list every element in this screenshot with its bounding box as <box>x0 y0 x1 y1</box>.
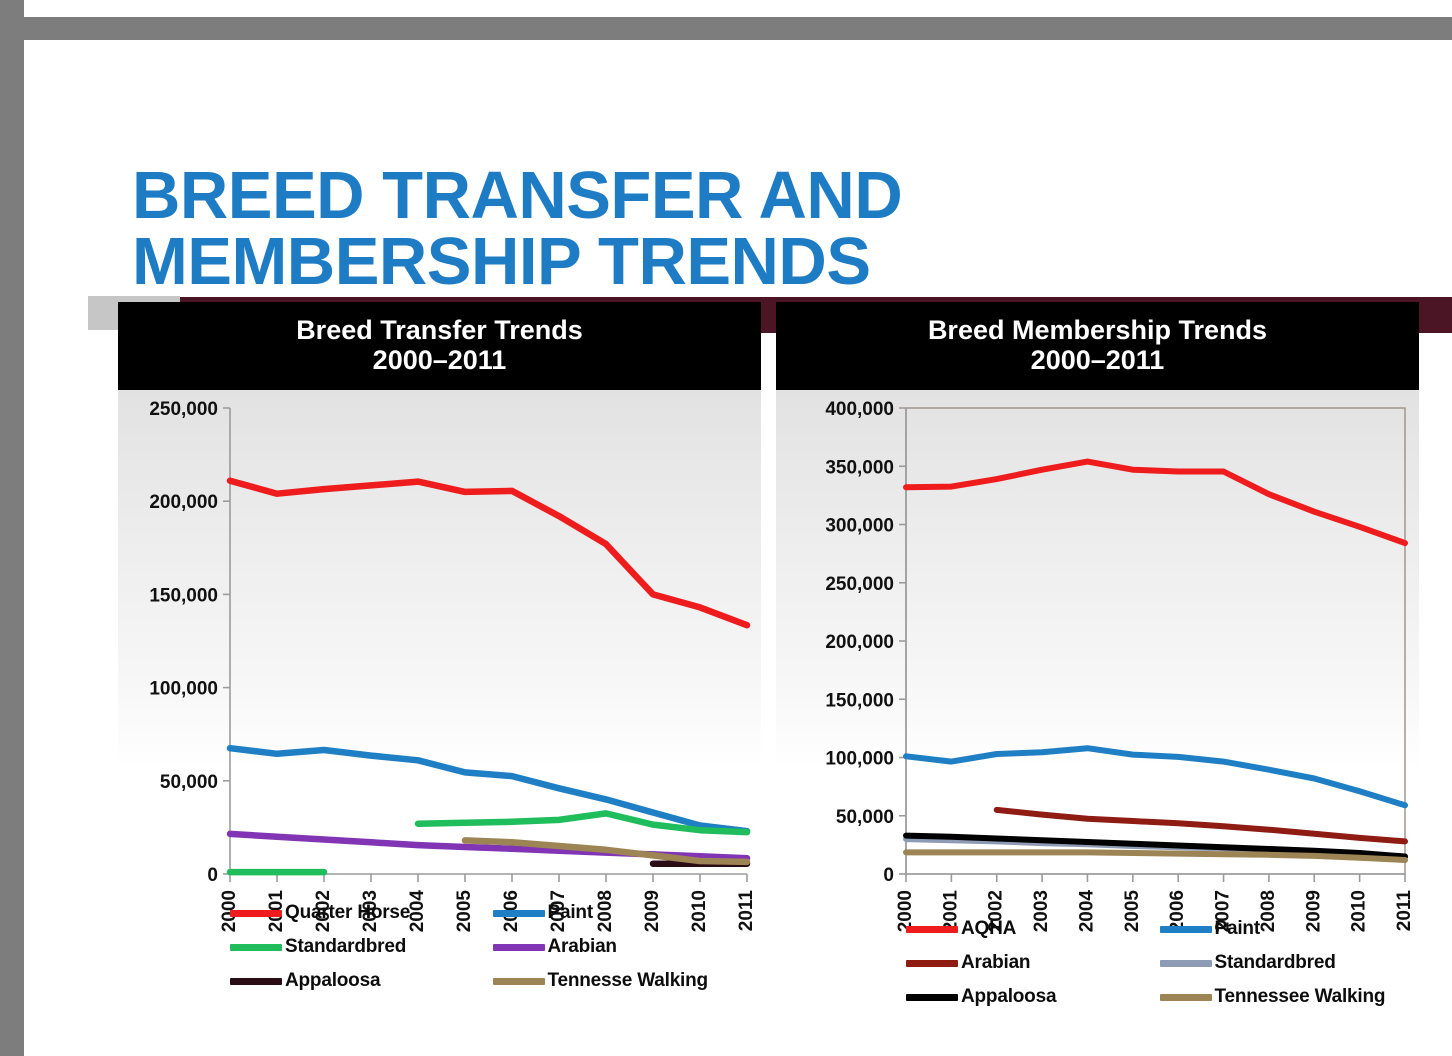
legend-item-label: Paint <box>1215 918 1260 940</box>
legend-item-label: Arabian <box>961 952 1030 974</box>
legend-item-label: Tennesse Walking <box>548 970 708 992</box>
y-axis-tick-label: 0 <box>207 865 218 886</box>
legend-item[interactable]: Appaloosa <box>906 986 1160 1008</box>
chart-panel-breed-membership: Breed Membership Trends 2000–2011 050,00… <box>776 302 1419 1002</box>
chart-panel-breed-transfer: Breed Transfer Trends 2000–2011 050,0001… <box>118 302 761 1002</box>
legend-item-label: Paint <box>548 902 593 924</box>
chart-legend-breed-transfer: Quarter HorsePaintStandardbredArabianApp… <box>118 902 761 992</box>
y-axis-tick-label: 50,000 <box>160 772 218 793</box>
y-axis-tick-label: 150,000 <box>149 585 218 606</box>
legend-color-swatch <box>493 910 545 917</box>
legend-color-swatch <box>493 978 545 985</box>
y-axis-tick-label: 300,000 <box>825 516 894 537</box>
window-chrome-left-border <box>0 0 24 1056</box>
legend-color-swatch <box>230 944 282 951</box>
plot-area-breed-membership: 050,000100,000150,000200,000250,000300,0… <box>776 390 1419 1002</box>
chart-title-line-1: Breed Membership Trends <box>776 315 1419 345</box>
y-axis-tick-label: 250,000 <box>825 574 894 595</box>
y-axis-tick-label: 100,000 <box>149 679 218 700</box>
window-chrome-top-bar <box>24 17 1452 40</box>
legend-color-swatch <box>230 978 282 985</box>
legend-item[interactable]: Tennessee Walking <box>1160 986 1414 1008</box>
legend-item[interactable]: Quarter Horse <box>230 902 493 924</box>
y-axis-tick-label: 400,000 <box>825 399 894 420</box>
legend-item-label: Quarter Horse <box>285 902 410 924</box>
legend-color-swatch <box>906 960 958 967</box>
legend-item[interactable]: Paint <box>1160 918 1414 940</box>
chart-title-breed-membership: Breed Membership Trends 2000–2011 <box>776 302 1419 390</box>
y-axis-tick-label: 200,000 <box>149 492 218 513</box>
chart-title-line-2: 2000–2011 <box>776 345 1419 375</box>
legend-item[interactable]: Paint <box>493 902 756 924</box>
legend-color-swatch <box>1160 960 1212 967</box>
y-axis-tick-label: 50,000 <box>836 807 894 828</box>
y-axis-tick-label: 0 <box>883 865 894 886</box>
legend-item[interactable]: Tennesse Walking <box>493 970 756 992</box>
legend-color-swatch <box>1160 994 1212 1001</box>
legend-item[interactable]: Standardbred <box>1160 952 1414 974</box>
legend-color-swatch <box>906 926 958 933</box>
legend-item-label: Tennessee Walking <box>1215 986 1386 1008</box>
legend-color-swatch <box>230 910 282 917</box>
legend-item[interactable]: AQHA <box>906 918 1160 940</box>
legend-item[interactable]: Arabian <box>493 936 756 958</box>
page-title: Breed Transfer and Membership Trends <box>132 163 1132 294</box>
chart-legend-breed-membership: AQHAPaintArabianStandardbredAppaloosaTen… <box>776 918 1419 1008</box>
legend-item[interactable]: Appaloosa <box>230 970 493 992</box>
legend-item[interactable]: Arabian <box>906 952 1160 974</box>
legend-item[interactable]: Standardbred <box>230 936 493 958</box>
legend-item-label: Appaloosa <box>285 970 380 992</box>
legend-item-label: AQHA <box>961 918 1016 940</box>
chart-title-breed-transfer: Breed Transfer Trends 2000–2011 <box>118 302 761 390</box>
line-chart-breed-membership: 050,000100,000150,000200,000250,000300,0… <box>776 390 1419 1002</box>
chart-title-line-2: 2000–2011 <box>118 345 761 375</box>
y-axis-tick-label: 150,000 <box>825 690 894 711</box>
y-axis-tick-label: 200,000 <box>825 632 894 653</box>
y-axis-tick-label: 350,000 <box>825 457 894 478</box>
legend-item-label: Standardbred <box>285 936 406 958</box>
legend-color-swatch <box>1160 926 1212 933</box>
legend-color-swatch <box>493 944 545 951</box>
y-axis-tick-label: 100,000 <box>825 749 894 770</box>
slide-canvas: Breed Transfer and Membership Trends Bre… <box>24 40 1452 1056</box>
legend-item-label: Standardbred <box>1215 952 1336 974</box>
legend-color-swatch <box>906 994 958 1001</box>
y-axis-tick-label: 250,000 <box>149 399 218 420</box>
legend-item-label: Appaloosa <box>961 986 1056 1008</box>
chart-title-line-1: Breed Transfer Trends <box>118 315 761 345</box>
legend-item-label: Arabian <box>548 936 617 958</box>
